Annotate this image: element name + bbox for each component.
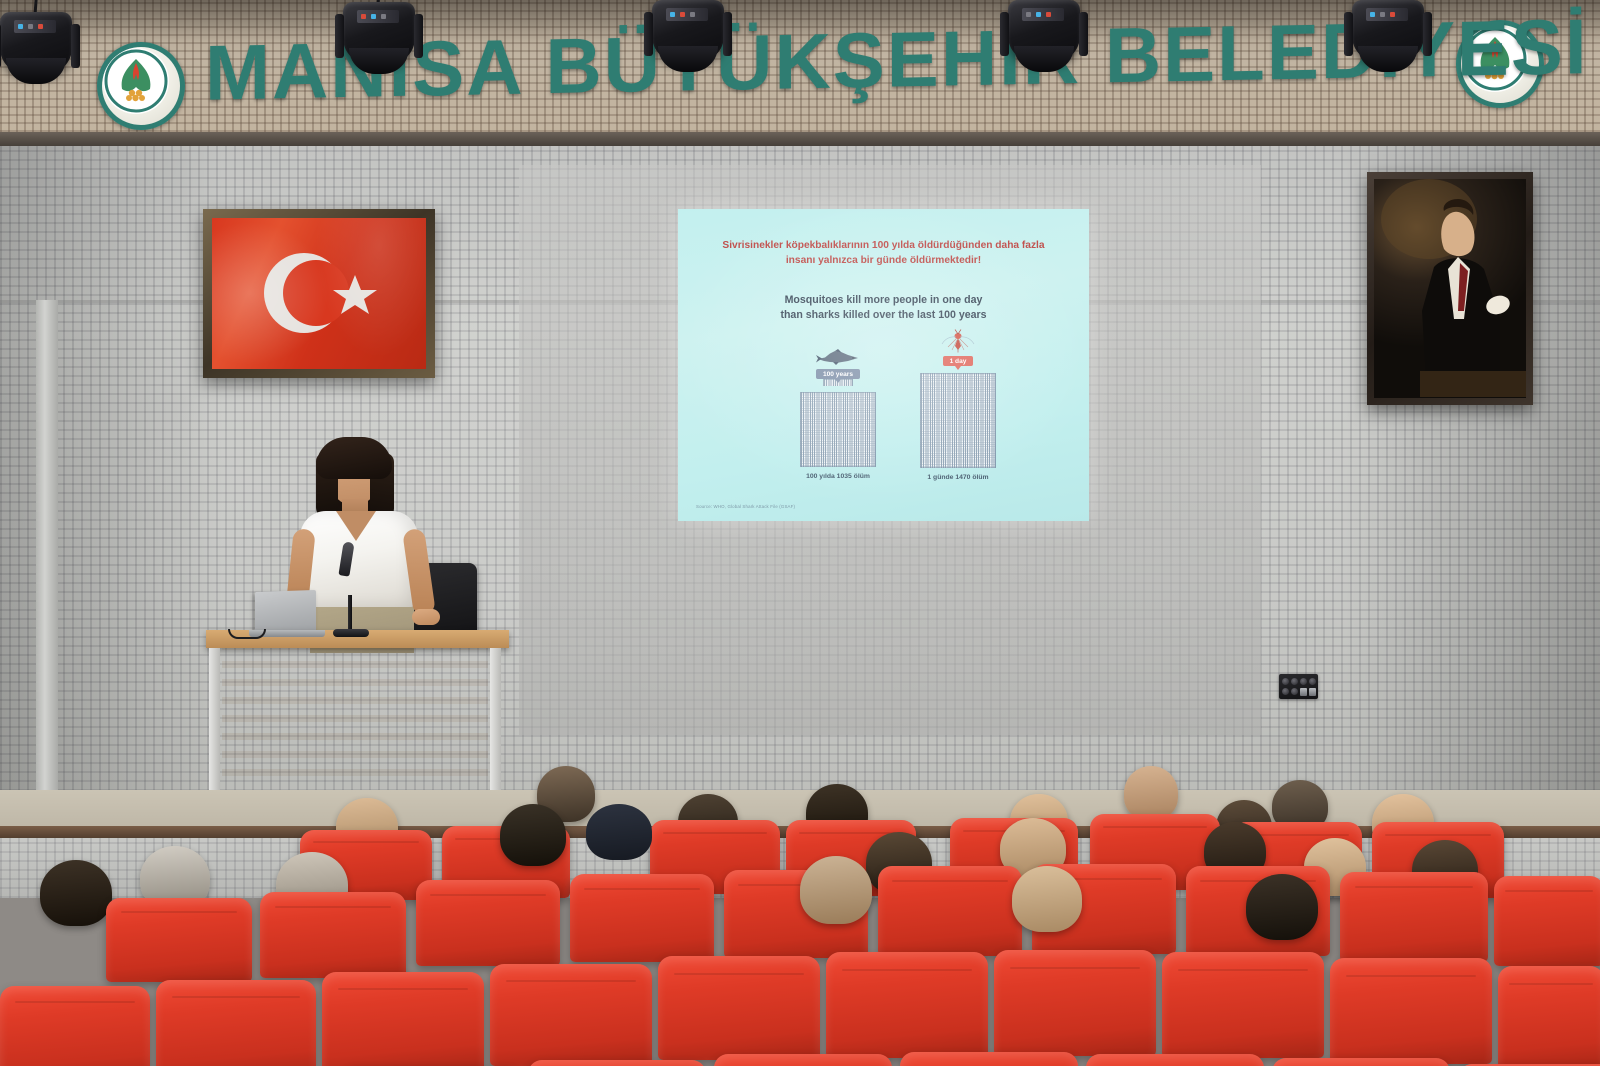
mosquito-icon — [941, 329, 975, 353]
audience-seat[interactable] — [490, 964, 652, 1066]
flag-fabric-sheen — [212, 218, 426, 369]
audience-head — [800, 856, 872, 924]
audience-seat[interactable] — [1086, 1054, 1264, 1066]
audience-head — [1012, 866, 1082, 932]
stage-light-bracket-left — [1000, 12, 1009, 56]
shark-deaths-caption: 100 yılda 1035 ölüm — [788, 473, 888, 480]
audience-seat[interactable] — [322, 972, 484, 1066]
shark-deaths-bar — [800, 392, 876, 467]
stage-light-control-panel — [666, 8, 708, 21]
stage-light-housing — [0, 12, 72, 74]
stage-light-bracket-right — [1423, 12, 1432, 56]
slide-title-turkish: Sivrisinekler köpekbalıklarının 100 yıld… — [696, 239, 1071, 269]
audience-seat[interactable] — [106, 898, 252, 982]
xlr-jack-6 — [1291, 688, 1298, 695]
stage-light-housing — [1352, 0, 1424, 62]
stage-light-bracket-left — [1344, 12, 1353, 56]
audience-seat[interactable] — [878, 866, 1022, 956]
mosquito-deaths-caption: 1 günde 1470 ölüm — [908, 474, 1008, 481]
ataturk-portrait-icon — [1374, 179, 1526, 398]
audience-head — [40, 860, 112, 926]
audience-seat[interactable] — [1272, 1058, 1450, 1066]
stage-light-control-panel — [14, 20, 56, 33]
audience-seat[interactable] — [994, 950, 1156, 1056]
stage-light-housing — [652, 0, 724, 62]
stage-light-control-panel — [1022, 8, 1064, 21]
stage-light-control-panel — [1366, 8, 1408, 21]
mosquito-deaths-bar — [920, 373, 996, 468]
framed-turkish-flag — [203, 209, 435, 378]
stage-light-bracket-right — [71, 24, 80, 68]
audience-seat[interactable] — [260, 892, 406, 978]
laptop-screen — [255, 590, 316, 633]
stage-light-2 — [343, 2, 415, 64]
audience-seat[interactable] — [900, 1052, 1078, 1066]
stage-light-3 — [652, 0, 724, 62]
xlr-jack-3 — [1300, 678, 1307, 685]
audience-seat[interactable] — [0, 986, 150, 1066]
audience-seat[interactable] — [416, 880, 560, 966]
stage-light-bracket-right — [414, 14, 423, 58]
audience-seat[interactable] — [714, 1054, 892, 1066]
audience-seat[interactable] — [156, 980, 316, 1066]
audience-head — [1124, 766, 1178, 820]
audience-head — [500, 804, 566, 866]
slide-title-turkish-line1: Sivrisinekler köpekbalıklarının 100 yıld… — [696, 239, 1071, 254]
stage-light-bracket-right — [723, 12, 732, 56]
chart-column-sharks: 100 years 100 yılda 1035 ölüm — [788, 349, 888, 480]
xlr-jack-4 — [1309, 678, 1316, 685]
audience-seat[interactable] — [1340, 872, 1488, 962]
rj45-port-2 — [1309, 688, 1316, 696]
slide-title-english: Mosquitoes kill more people in one day t… — [706, 293, 1061, 323]
podium-desk-front-panel — [222, 648, 488, 776]
mosquito-period-badge: 1 day — [943, 356, 974, 366]
slide-title-english-line1: Mosquitoes kill more people in one day — [706, 293, 1061, 308]
xlr-jack-2 — [1291, 678, 1298, 685]
stage-light-control-panel — [357, 10, 399, 23]
audience-seat[interactable] — [528, 1060, 706, 1066]
slide-title-turkish-line2: insanı yalnızca bir günde öldürmektedir! — [696, 254, 1071, 269]
stage-light-bracket-left — [644, 12, 653, 56]
presentation-slide: Sivrisinekler köpekbalıklarının 100 yıld… — [678, 209, 1089, 521]
stage-light-housing — [343, 2, 415, 64]
audience-seat[interactable] — [1498, 966, 1600, 1066]
stage-light-1 — [0, 12, 72, 74]
shark-period-badge: 100 years — [816, 369, 860, 379]
xlr-jack-5 — [1282, 688, 1289, 695]
stage-light-bracket-right — [1079, 12, 1088, 56]
slide-title-english-line2: than sharks killed over the last 100 yea… — [706, 308, 1061, 323]
turkish-flag-icon — [212, 218, 426, 369]
av-wall-plate[interactable] — [1279, 674, 1318, 699]
stage-light-bracket-left — [335, 14, 344, 58]
rj45-port-1 — [1300, 688, 1307, 696]
stage-light-4 — [1008, 0, 1080, 62]
presenter-hand-right — [412, 609, 440, 625]
audience-head — [1246, 874, 1318, 940]
xlr-jack-1 — [1282, 678, 1289, 685]
microphone-base — [333, 629, 369, 637]
stage-light-bracket-left — [0, 24, 1, 68]
audience-seating-area — [0, 780, 1600, 1066]
ataturk-portrait-frame — [1367, 172, 1533, 405]
shark-icon — [815, 349, 861, 366]
desk-cable — [228, 629, 266, 639]
auditorium-presentation-scene: MANİSA BÜYÜKŞEHİR BELEDİYESİ — [0, 0, 1600, 1066]
wall-pillar — [36, 300, 58, 820]
presenter-neckline — [336, 511, 376, 541]
stage-light-housing — [1008, 0, 1080, 62]
audience-seat[interactable] — [826, 952, 988, 1058]
audience-seat[interactable] — [1330, 958, 1492, 1064]
chart-column-mosquitoes: 1 day 1 günde 1470 ölüm — [908, 329, 1008, 481]
audience-seat[interactable] — [658, 956, 820, 1060]
audience-seat[interactable] — [570, 874, 714, 962]
audience-seat[interactable] — [1162, 952, 1324, 1058]
audience-seat[interactable] — [1494, 876, 1600, 966]
presenter-hair-front — [316, 437, 392, 479]
stage-light-5 — [1352, 0, 1424, 62]
manisa-municipality-logo — [97, 42, 185, 130]
slide-source-citation: Source: WHO, Global Shark Attack File (G… — [696, 504, 795, 509]
audience-cap — [586, 804, 652, 860]
